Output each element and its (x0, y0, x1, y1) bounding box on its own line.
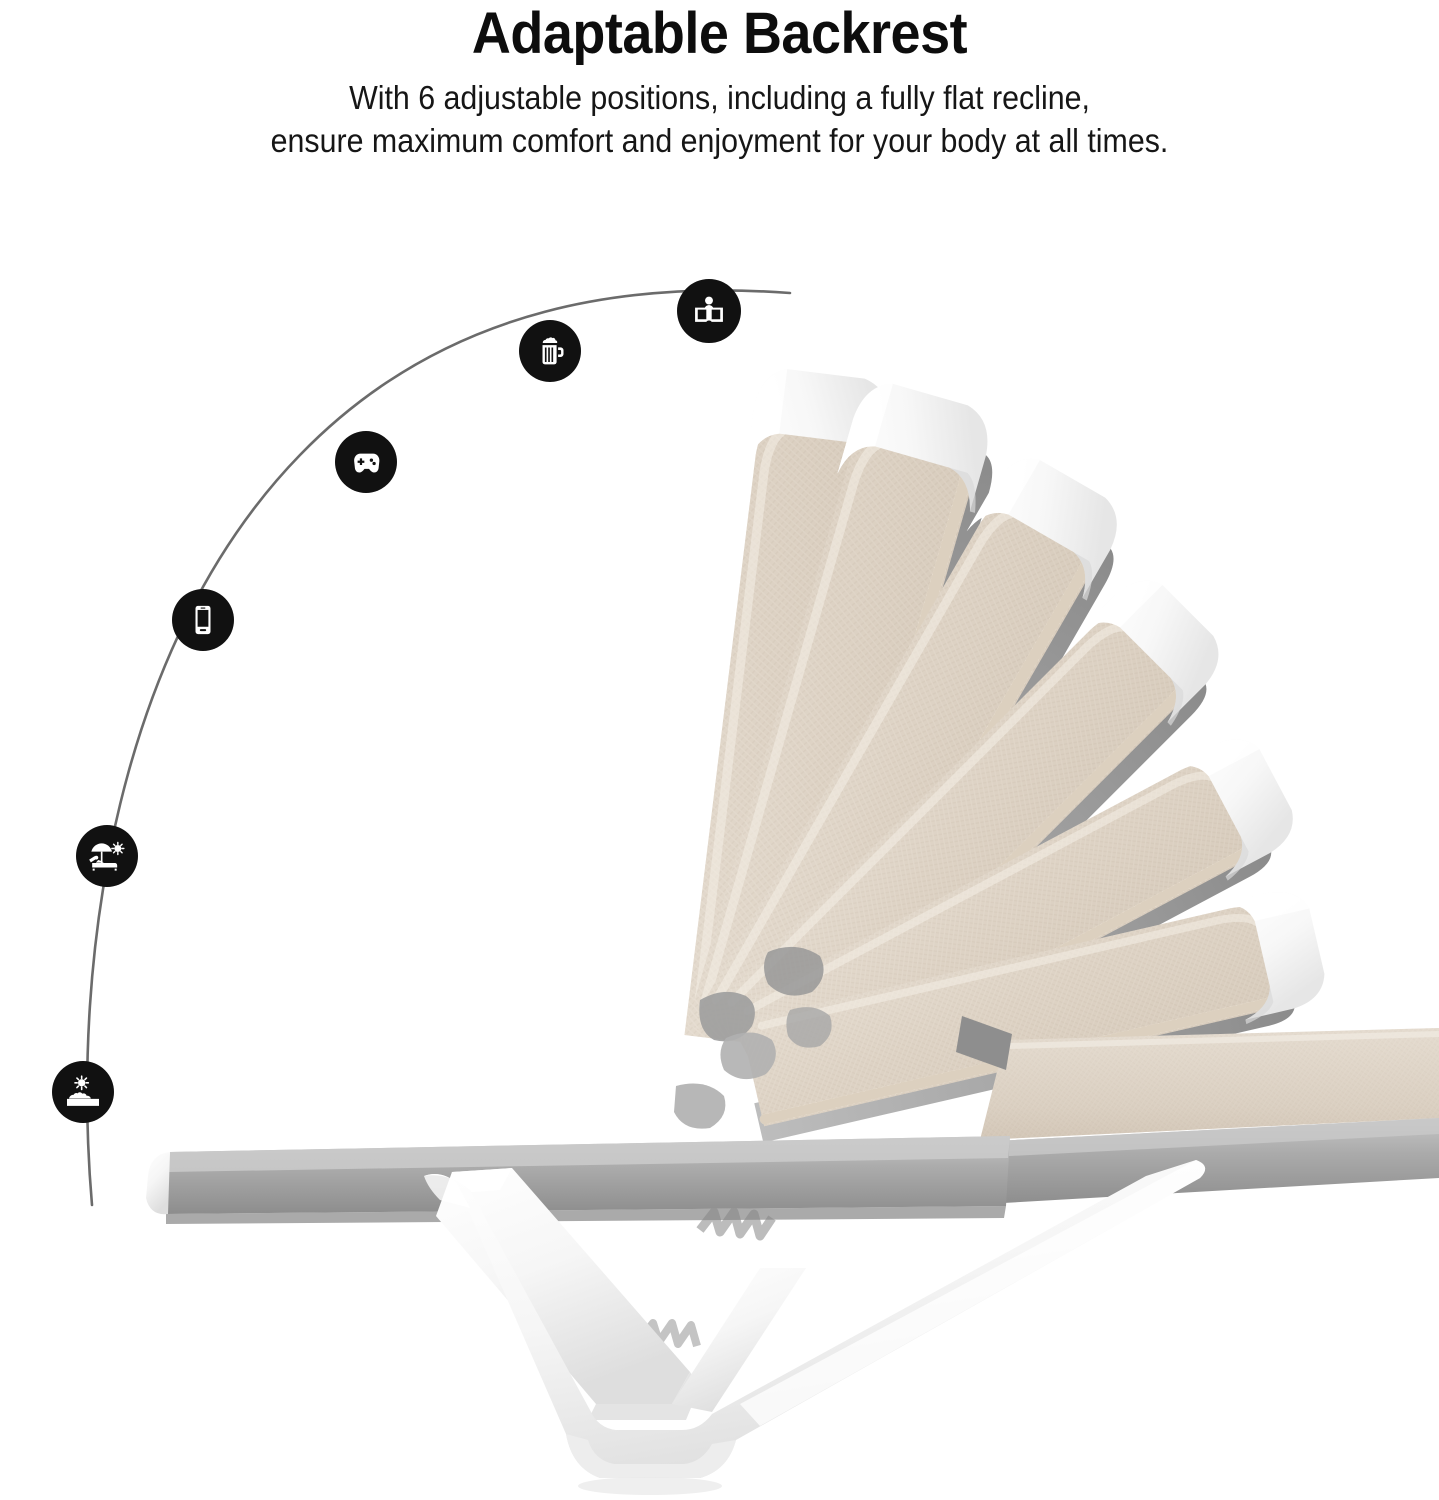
book-reading-icon (690, 292, 728, 330)
chaise-lounge-illustration (0, 0, 1439, 1500)
flat-recline-icon (63, 1072, 103, 1112)
activity-badge-napping[interactable] (52, 1061, 114, 1123)
page-subtitle: With 6 adjustable positions, including a… (58, 76, 1382, 162)
activity-badge-gaming[interactable] (335, 431, 397, 493)
gamepad-icon (348, 444, 384, 480)
beer-mug-icon (532, 333, 568, 369)
activity-badge-sunbathe[interactable] (76, 825, 138, 887)
parasol-lounge-icon (87, 836, 127, 876)
activity-badge-drinking[interactable] (519, 320, 581, 382)
feature-text-block: Adaptable Backrest With 6 adjustable pos… (0, 0, 1439, 200)
smartphone-icon (185, 602, 221, 638)
product-feature-image: Adaptable Backrest With 6 adjustable pos… (0, 0, 1439, 1500)
page-title: Adaptable Backrest (50, 0, 1388, 66)
activity-badge-reading[interactable] (677, 279, 741, 343)
side-rail (146, 1136, 1010, 1224)
backrest-panel-group (676, 366, 1333, 1143)
activity-badge-phone[interactable] (172, 589, 234, 651)
